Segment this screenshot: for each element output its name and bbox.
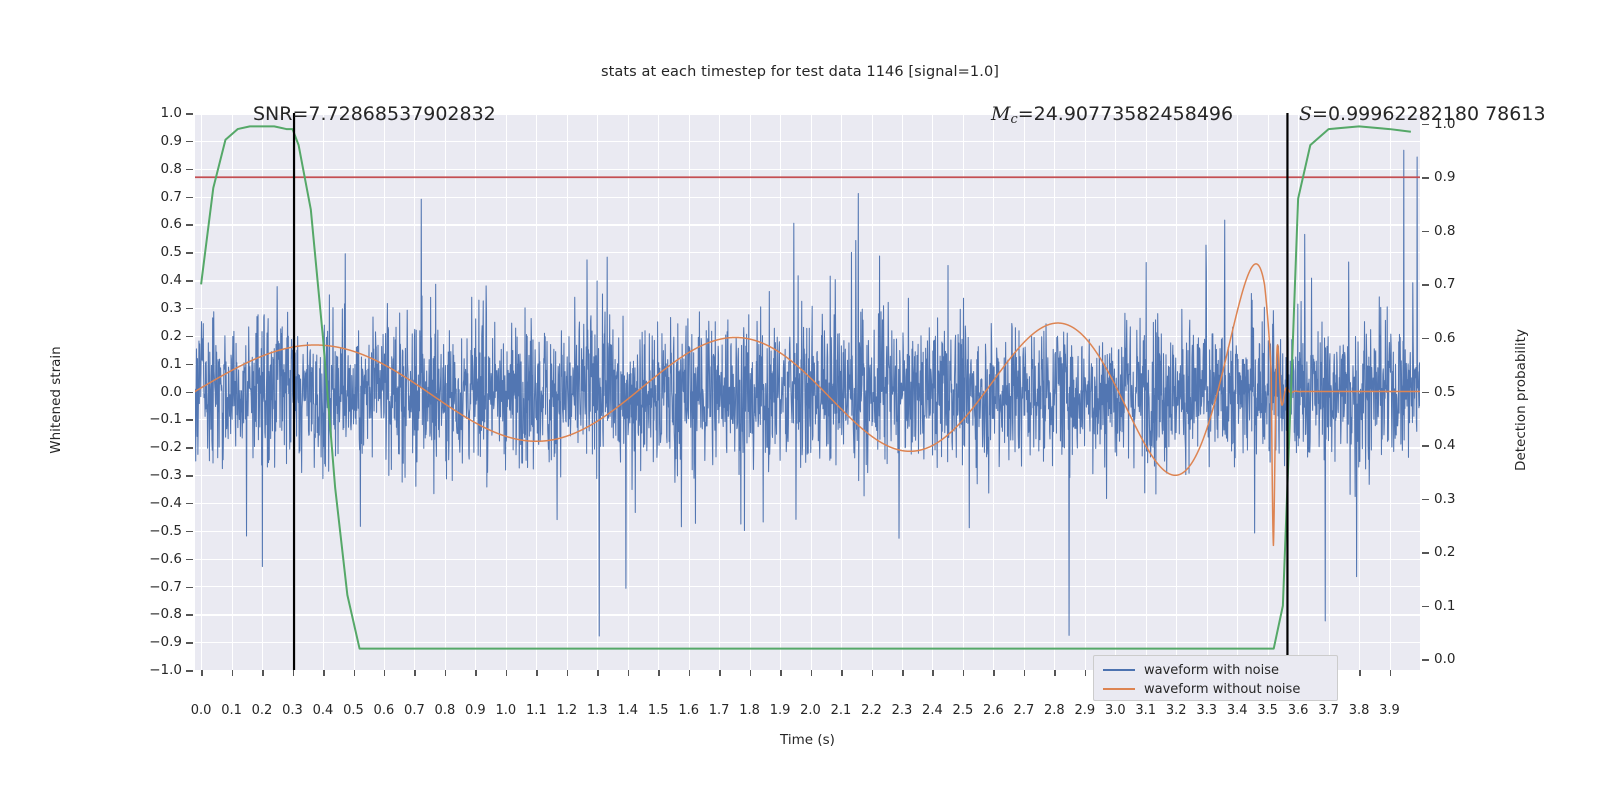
annotation-snr-value: 7.72868537902832 [308, 103, 495, 125]
y-tick-label-left: −0.6 [149, 551, 182, 567]
annotation-mc-value: 24.90773582458496 [1034, 103, 1233, 125]
y-tick-left [186, 141, 193, 143]
x-tick [902, 670, 904, 676]
x-tick-label: 0.9 [465, 703, 486, 718]
x-axis-label: Time (s) [195, 732, 1420, 748]
y-tick-left [186, 531, 193, 533]
annotation-chirp-mass: Mc=24.90773582458496 [991, 103, 1233, 127]
x-tick [293, 670, 295, 676]
y-tick-label-left: 0.4 [161, 272, 182, 288]
x-tick-label: 2.5 [953, 703, 974, 718]
y-tick-right [1422, 499, 1429, 501]
x-tick-label: 0.0 [191, 703, 212, 718]
x-tick-label: 0.8 [435, 703, 456, 718]
y-tick-label-left: 1.0 [161, 105, 182, 121]
annotation-mc-subscript: c [1010, 112, 1017, 127]
x-tick [536, 670, 538, 676]
y-tick-right [1422, 445, 1429, 447]
x-tick [1054, 670, 1056, 676]
x-tick [384, 670, 386, 676]
x-tick-label: 1.0 [495, 703, 516, 718]
y-tick-label-left: −0.8 [149, 606, 182, 622]
y-tick-left [186, 419, 193, 421]
x-tick-label: 1.6 [678, 703, 699, 718]
figure-canvas: stats at each timestep for test data 114… [0, 0, 1600, 800]
y-tick-left [186, 447, 193, 449]
x-tick-label: 2.1 [831, 703, 852, 718]
y-tick-left [186, 224, 193, 226]
y-tick-label-left: 0.7 [161, 189, 182, 205]
y-tick-label-right: 0.0 [1434, 651, 1455, 667]
annotation-mc-symbol: M [991, 103, 1010, 125]
y-tick-left [186, 475, 193, 477]
y-tick-left [186, 308, 193, 310]
x-tick [963, 670, 965, 676]
x-tick-label: 3.5 [1257, 703, 1278, 718]
x-tick [628, 670, 630, 676]
x-tick [1359, 670, 1361, 676]
y-tick-label-right: 0.4 [1434, 437, 1455, 453]
y-axis-label-right: Detection probability [1513, 285, 1529, 515]
y-tick-label-right: 0.6 [1434, 330, 1455, 346]
y-tick-label-right: 0.1 [1434, 598, 1455, 614]
y-tick-label-left: −0.3 [149, 467, 182, 483]
y-tick-label-left: −0.1 [149, 411, 182, 427]
x-tick [811, 670, 813, 676]
x-tick-label: 1.8 [739, 703, 760, 718]
annotation-snr-label: SNR= [253, 103, 308, 125]
y-tick-label-left: 0.0 [161, 384, 182, 400]
y-tick-label-left: −0.7 [149, 579, 182, 595]
y-tick-left [186, 614, 193, 616]
x-tick-label: 2.8 [1044, 703, 1065, 718]
y-tick-right [1422, 338, 1429, 340]
x-tick-label: 3.6 [1288, 703, 1309, 718]
x-tick [780, 670, 782, 676]
x-tick-label: 3.2 [1166, 703, 1187, 718]
y-tick-label-left: −0.9 [149, 634, 182, 650]
y-tick-label-right: 0.5 [1434, 384, 1455, 400]
x-tick-label: 3.4 [1227, 703, 1248, 718]
annotation-s-value: 0.99962282180 78613 [1328, 103, 1546, 125]
x-tick-label: 2.4 [922, 703, 943, 718]
legend-item-noise: waveform with noise [1103, 661, 1328, 679]
y-tick-label-right: 0.7 [1434, 276, 1455, 292]
annotation-score: S=0.99962282180 78613 [1299, 103, 1546, 125]
x-tick [262, 670, 264, 676]
x-tick-label: 0.6 [374, 703, 395, 718]
legend: waveform with noise waveform without noi… [1093, 655, 1338, 701]
y-tick-left [186, 670, 193, 672]
annotation-snr: SNR=7.72868537902832 [253, 103, 496, 125]
x-tick-label: 2.0 [800, 703, 821, 718]
x-tick [445, 670, 447, 676]
y-tick-left [186, 113, 193, 115]
x-tick [201, 670, 203, 676]
y-tick-left [186, 280, 193, 282]
x-tick [993, 670, 995, 676]
y-tick-left [186, 336, 193, 338]
y-tick-label-left: 0.5 [161, 244, 182, 260]
y-tick-label-left: 0.9 [161, 133, 182, 149]
x-tick [841, 670, 843, 676]
x-tick [597, 670, 599, 676]
x-tick-label: 0.3 [282, 703, 303, 718]
y-tick-left [186, 642, 193, 644]
y-tick-label-right: 0.8 [1434, 223, 1455, 239]
y-tick-right [1422, 284, 1429, 286]
x-tick [750, 670, 752, 676]
y-tick-right [1422, 177, 1429, 179]
x-tick [414, 670, 416, 676]
x-tick-label: 2.7 [1014, 703, 1035, 718]
y-tick-right [1422, 231, 1429, 233]
x-tick-label: 1.5 [648, 703, 669, 718]
annotation-s-equals: = [1312, 103, 1328, 125]
y-axis-label-left: Whitened strain [48, 290, 64, 510]
x-tick [719, 670, 721, 676]
y-tick-left [186, 252, 193, 254]
y-tick-label-left: −0.2 [149, 439, 182, 455]
x-tick-label: 1.3 [587, 703, 608, 718]
y-tick-left [186, 392, 193, 394]
y-tick-label-right: 0.2 [1434, 544, 1455, 560]
y-tick-left [186, 503, 193, 505]
x-tick-label: 1.7 [709, 703, 730, 718]
y-tick-left [186, 364, 193, 366]
x-tick [689, 670, 691, 676]
y-tick-label-left: −1.0 [149, 662, 182, 678]
x-tick-label: 3.3 [1196, 703, 1217, 718]
x-tick [1390, 670, 1392, 676]
x-tick-label: 2.2 [861, 703, 882, 718]
y-tick-label-left: 0.2 [161, 328, 182, 344]
y-tick-left [186, 587, 193, 589]
y-tick-left [186, 559, 193, 561]
legend-label-noise: waveform with noise [1144, 663, 1279, 678]
y-tick-left [186, 169, 193, 171]
y-tick-label-right: 0.9 [1434, 169, 1455, 185]
y-tick-label-left: 0.8 [161, 161, 182, 177]
y-tick-label-left: −0.4 [149, 495, 182, 511]
x-tick [1024, 670, 1026, 676]
y-tick-label-left: 0.3 [161, 300, 182, 316]
x-tick [872, 670, 874, 676]
x-tick [232, 670, 234, 676]
y-tick-right [1422, 552, 1429, 554]
x-tick-label: 1.9 [770, 703, 791, 718]
x-tick-label: 1.1 [526, 703, 547, 718]
y-tick-right [1422, 659, 1429, 661]
y-tick-label-right: 0.3 [1434, 491, 1455, 507]
x-tick-label: 0.5 [343, 703, 364, 718]
y-tick-right [1422, 606, 1429, 608]
x-tick-label: 3.8 [1349, 703, 1370, 718]
x-tick-label: 3.9 [1379, 703, 1400, 718]
x-tick-label: 0.1 [221, 703, 242, 718]
x-tick-label: 1.4 [617, 703, 638, 718]
y-tick-left [186, 197, 193, 199]
legend-item-signal: waveform without noise [1103, 680, 1328, 698]
x-tick-label: 3.7 [1318, 703, 1339, 718]
x-tick-label: 2.3 [892, 703, 913, 718]
y-tick-label-left: 0.6 [161, 216, 182, 232]
x-tick [475, 670, 477, 676]
annotation-mc-equals: = [1018, 103, 1034, 125]
y-tick-label-left: 0.1 [161, 356, 182, 372]
y-tick-label-left: −0.5 [149, 523, 182, 539]
x-tick [932, 670, 934, 676]
legend-swatch-noise [1103, 669, 1135, 671]
x-tick-label: 2.9 [1074, 703, 1095, 718]
plot-area [195, 113, 1420, 670]
x-tick-label: 3.1 [1135, 703, 1156, 718]
x-tick-label: 0.7 [404, 703, 425, 718]
legend-label-signal: waveform without noise [1144, 682, 1300, 697]
x-tick-label: 3.0 [1105, 703, 1126, 718]
y-tick-right [1422, 392, 1429, 394]
x-tick-label: 0.4 [313, 703, 334, 718]
annotation-s-symbol: S [1299, 103, 1312, 125]
x-tick [567, 670, 569, 676]
x-tick-label: 0.2 [252, 703, 273, 718]
chart-title: stats at each timestep for test data 114… [0, 64, 1600, 80]
x-tick [354, 670, 356, 676]
x-tick-label: 1.2 [556, 703, 577, 718]
x-tick [506, 670, 508, 676]
x-tick-label: 2.6 [983, 703, 1004, 718]
data-layer [195, 113, 1420, 670]
x-tick [1085, 670, 1087, 676]
legend-swatch-signal [1103, 688, 1135, 690]
x-tick [323, 670, 325, 676]
x-tick [658, 670, 660, 676]
